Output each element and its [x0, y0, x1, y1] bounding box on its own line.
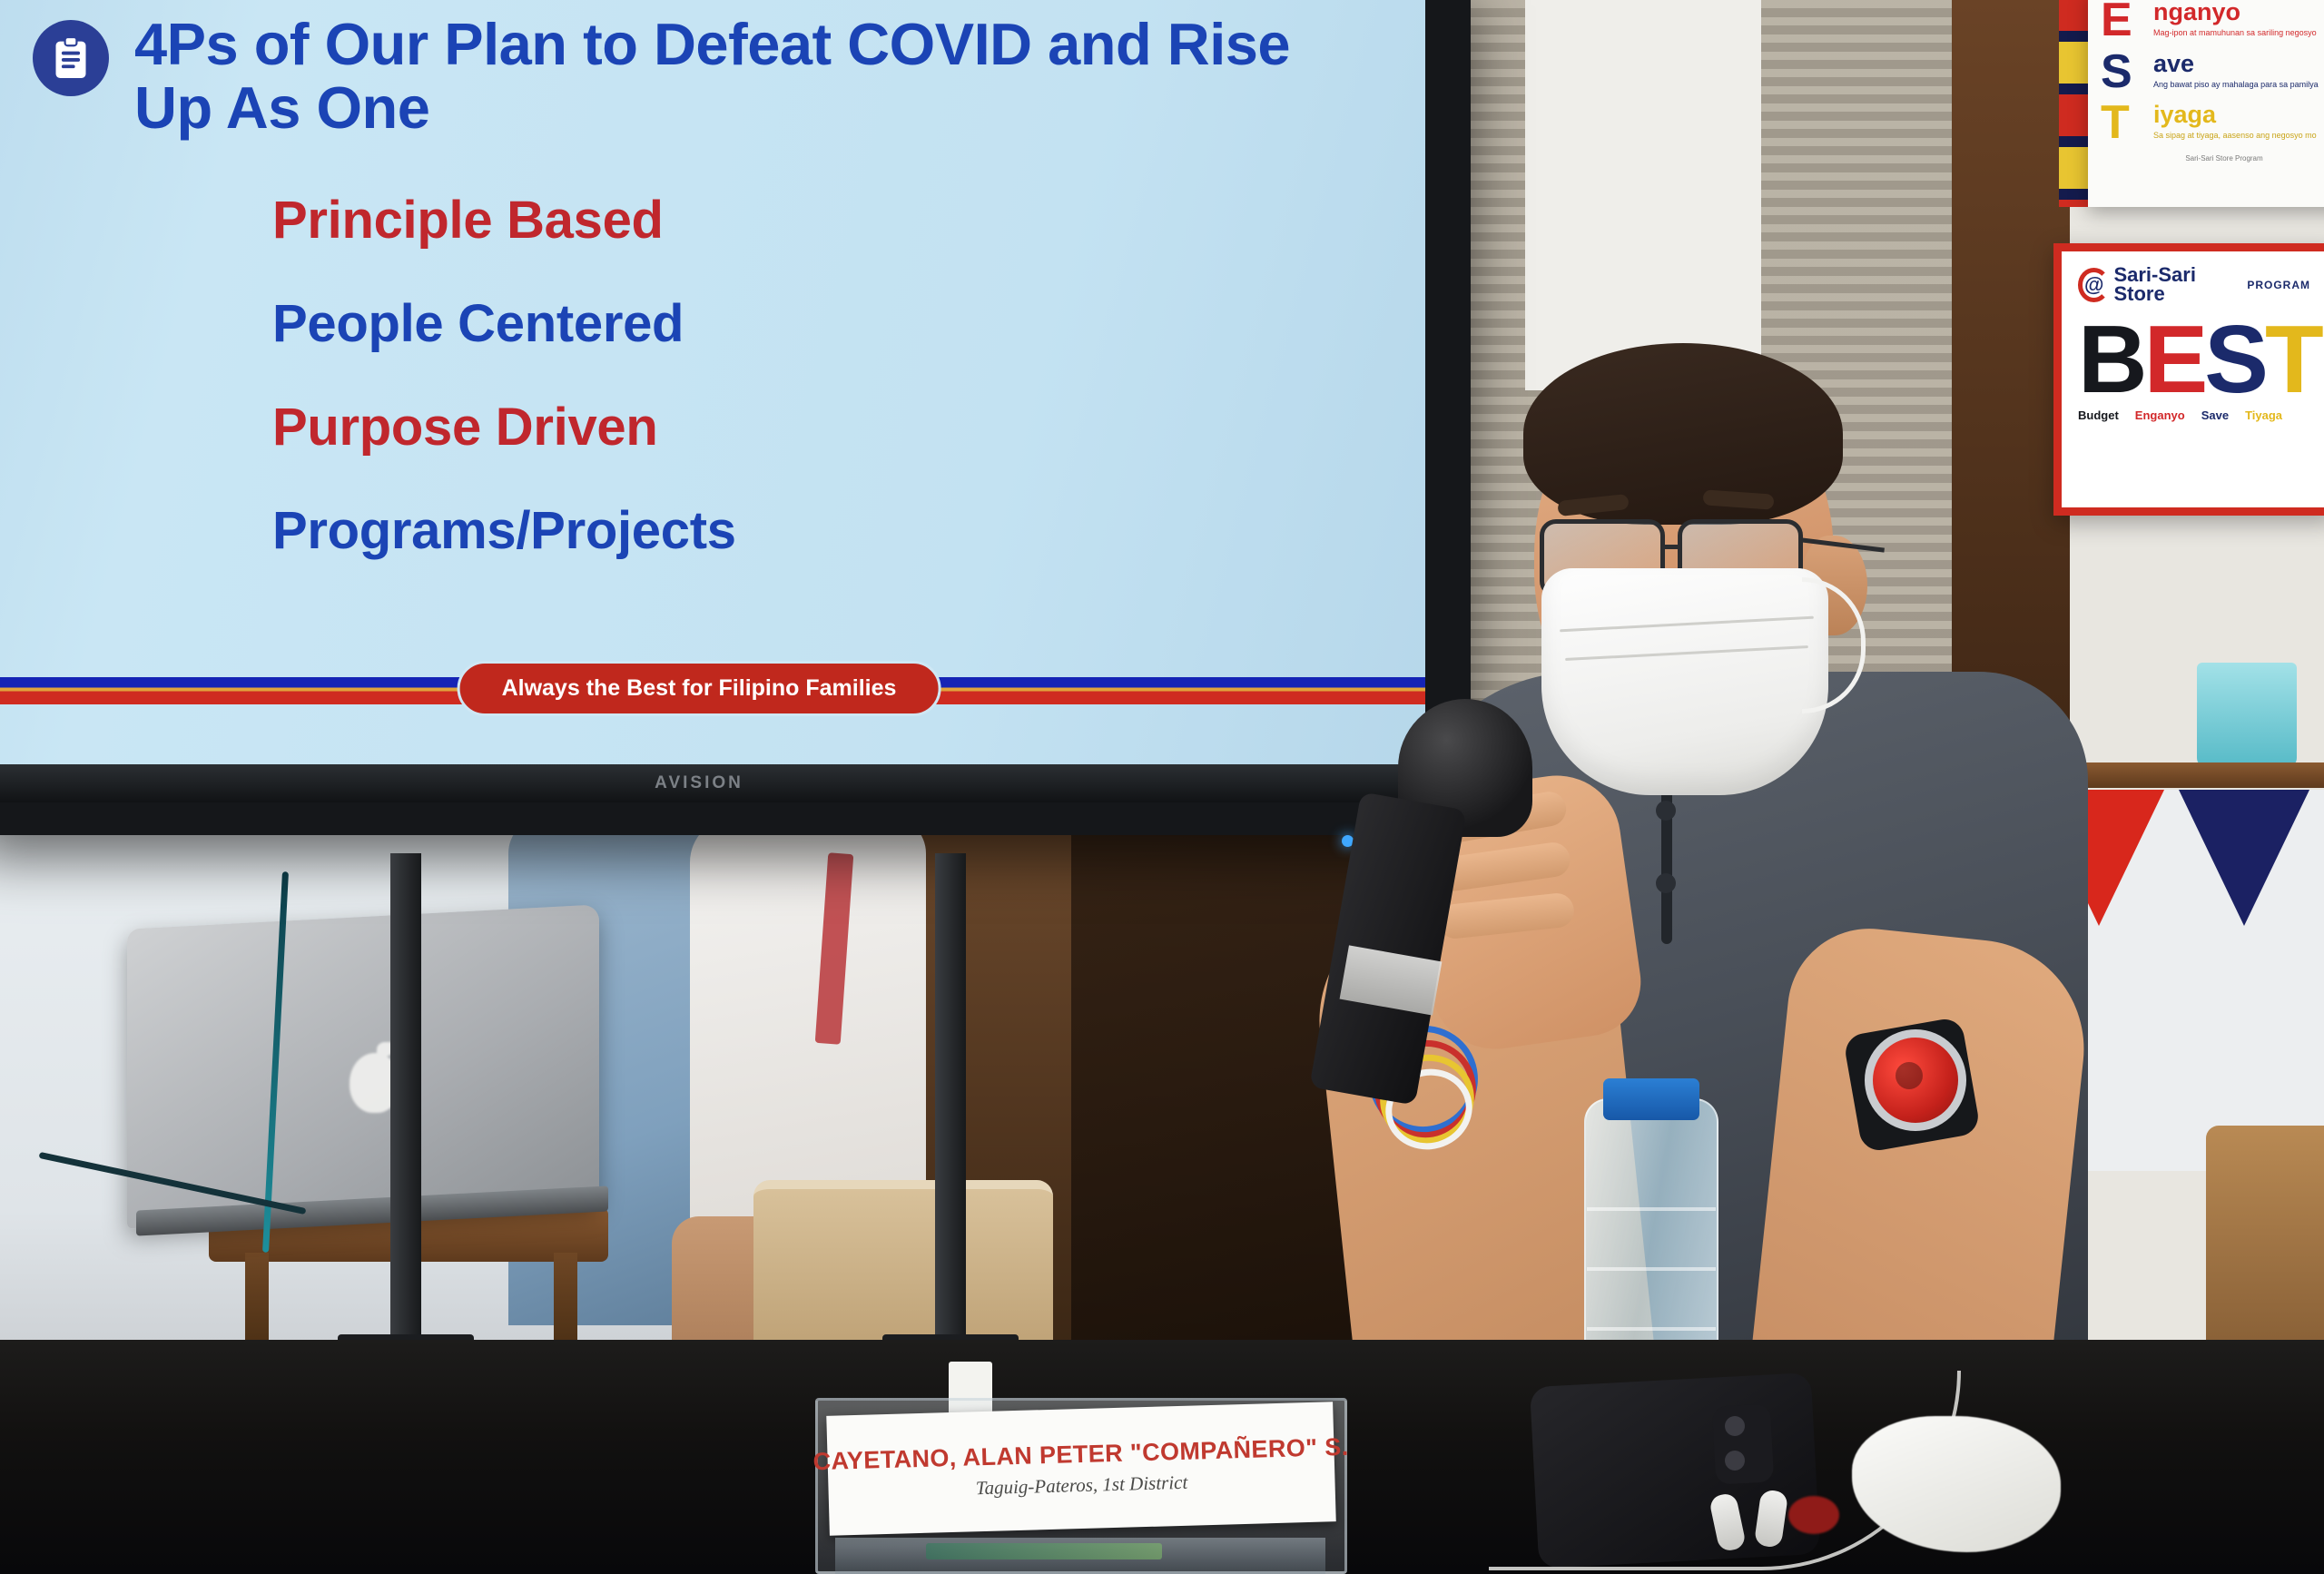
est-letter-e: E [2101, 0, 2142, 41]
nameplate-district: Taguig-Pateros, 1st District [975, 1471, 1187, 1500]
est-word-tiyaga: iyaga [2153, 103, 2324, 127]
presentation-display: 4Ps of Our Plan to Defeat COVID and Rise… [0, 0, 1471, 835]
bottle-ring [1587, 1267, 1716, 1271]
best-letter-t: T [2265, 317, 2320, 403]
press-briefing-scene: 4Ps of Our Plan to Defeat COVID and Rise… [0, 0, 2324, 1574]
est-row-save: S ave Ang bawat piso ay mahalaga para sa… [2101, 52, 2324, 93]
tagline-prefix: Always the Best for [502, 675, 719, 701]
bottle-ring [1587, 1327, 1716, 1331]
bullet-principle-based: Principle Based [272, 194, 1425, 247]
est-sub-enganyo: Mag-ipon at mamuhunan sa sariling negosy… [2153, 28, 2324, 38]
display-screen: 4Ps of Our Plan to Defeat COVID and Rise… [0, 0, 1425, 764]
sari-sari-store-logo: @ Sari-Sari Store [2078, 266, 2240, 304]
bottle-cap [1603, 1078, 1699, 1120]
poster-est-border [2059, 0, 2092, 207]
earbuds [1707, 1489, 1807, 1561]
bullet-purpose-driven: Purpose Driven [272, 401, 1425, 454]
est-word-save: ave [2153, 52, 2324, 76]
earbud-left [1709, 1492, 1747, 1553]
est-letter-s: S [2101, 52, 2142, 93]
clipboard-icon [33, 20, 109, 96]
display-stand-neck [390, 853, 421, 1362]
presentation-slide: 4Ps of Our Plan to Defeat COVID and Rise… [0, 0, 1425, 764]
bullet-people-centered: People Centered [272, 298, 1425, 350]
footer-tagline-badge: Always the Best for Filipino Families [458, 661, 941, 716]
eyeglass-bridge [1665, 545, 1679, 549]
speaker [1344, 390, 2251, 1425]
earbud-right [1754, 1489, 1788, 1549]
polo-button [1656, 801, 1676, 821]
est-letter-t: T [2101, 103, 2142, 143]
slide-footer: Always the Best for Filipino Families [0, 661, 1425, 715]
poster-est: E nganyo Mag-ipon at mamuhunan sa sarili… [2088, 0, 2324, 207]
sari-sari-store-name: Sari-Sari Store [2113, 266, 2240, 304]
bottle-ring [1587, 1207, 1716, 1211]
est-word-enganyo: nganyo [2153, 0, 2324, 25]
nameplate-reflection [926, 1543, 1162, 1559]
slide-header: 4Ps of Our Plan to Defeat COVID and Rise… [0, 13, 1425, 140]
at-sign-glyph: @ [2084, 275, 2103, 295]
display-bezel: AVISION [0, 764, 1425, 802]
est-sub-save: Ang bawat piso ay mahalaga para sa pamil… [2153, 80, 2324, 90]
est-row-enganyo: E nganyo Mag-ipon at mamuhunan sa sarili… [2101, 0, 2324, 41]
watch-subdial [1896, 1062, 1923, 1089]
est-sub-tiyaga: Sa sipag at tiyaga, aasenso ang negosyo … [2153, 131, 2324, 141]
bullet-programs-projects: Programs/Projects [272, 505, 1425, 557]
nameplate-name: CAYETANO, ALAN PETER "COMPAÑERO" S. [812, 1433, 1349, 1476]
est-row-tiyaga: T iyaga Sa sipag at tiyaga, aasenso ang … [2101, 103, 2324, 143]
tagline-suffix: Families [799, 675, 896, 701]
face-mask [1541, 568, 1828, 795]
tagline-highlight: Filipino [719, 675, 800, 701]
display-stand-neck [935, 853, 966, 1362]
at-sign-icon: @ [2078, 268, 2110, 302]
poster-best-header: @ Sari-Sari Store PROGRAM [2078, 266, 2310, 304]
polo-button [1656, 873, 1676, 893]
est-footer-label: Sari-Sari Store Program [2101, 154, 2324, 162]
speaker-hair [1523, 343, 1843, 525]
nameplate: CAYETANO, ALAN PETER "COMPAÑERO" S. Tagu… [826, 1402, 1335, 1536]
slide-bullet-list: Principle Based People Centered Purpose … [0, 194, 1425, 557]
wall-panel-white [1525, 0, 1761, 390]
display-brand-label: AVISION [655, 773, 743, 793]
poster-best-program-label: PROGRAM [2247, 279, 2310, 291]
slide-title: 4Ps of Our Plan to Defeat COVID and Rise… [134, 13, 1369, 140]
